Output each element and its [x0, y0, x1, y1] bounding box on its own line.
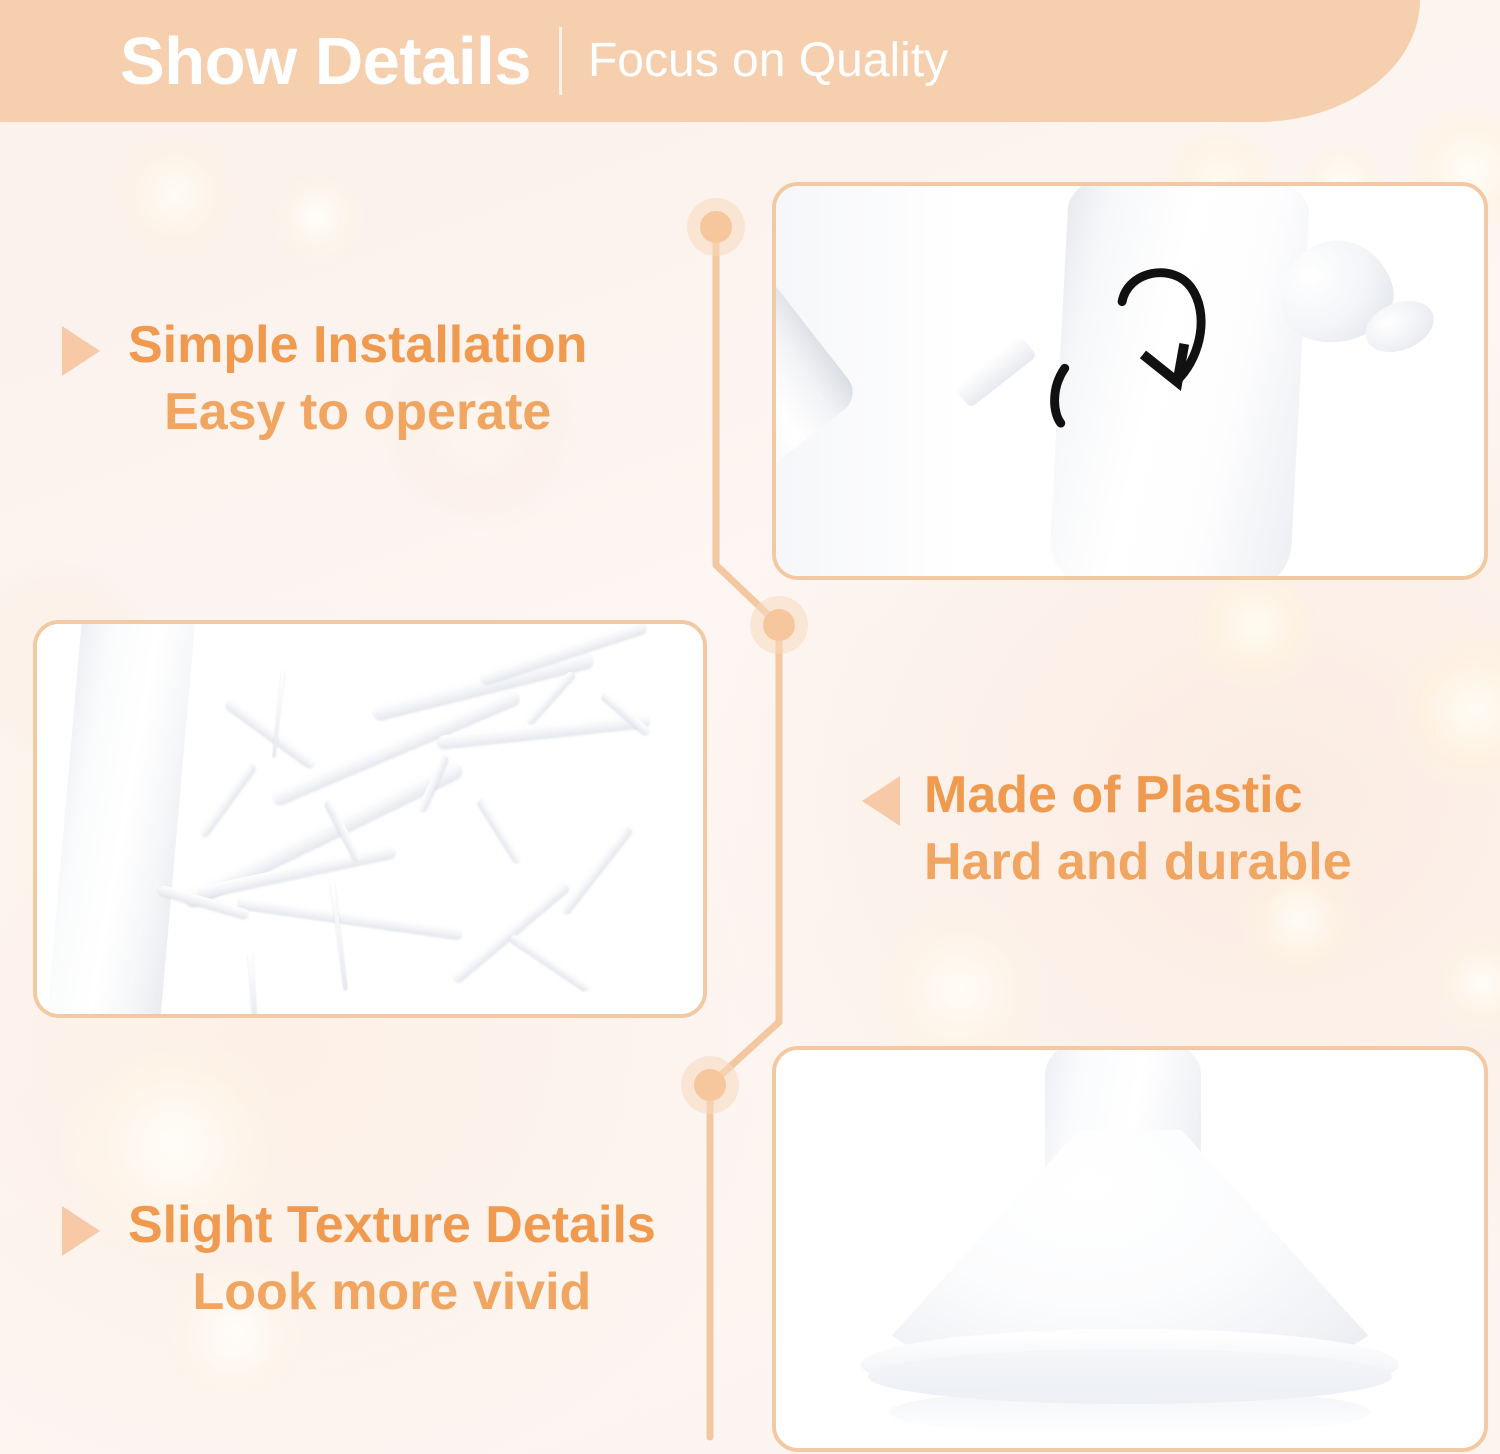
- feature-text: Simple Installation Easy to operate: [128, 312, 587, 445]
- header-subtitle: Focus on Quality: [588, 37, 948, 85]
- product-photo-branch-texture: [37, 624, 703, 1014]
- connector-dot-icon: [687, 198, 745, 256]
- feature-text: Slight Texture Details Look more vivid: [128, 1192, 656, 1325]
- infographic-page: Show Details Focus on Quality: [0, 0, 1500, 1454]
- panel-base[interactable]: [772, 1046, 1488, 1452]
- panel-branch-texture[interactable]: [33, 620, 707, 1018]
- feature-line-2: Look more vivid: [128, 1259, 656, 1326]
- page-title: Show Details: [120, 28, 531, 95]
- product-photo-branch-joint: [776, 186, 1484, 576]
- feature-line-1: Made of Plastic: [924, 762, 1352, 829]
- triangle-right-icon: [62, 326, 100, 376]
- feature-made-of-plastic: Made of Plastic Hard and durable: [862, 762, 1352, 895]
- feature-line-1: Slight Texture Details: [128, 1192, 656, 1259]
- feature-simple-installation: Simple Installation Easy to operate: [62, 312, 587, 445]
- rotate-arrow-icon: [776, 186, 1484, 576]
- feature-text: Made of Plastic Hard and durable: [924, 762, 1352, 895]
- connector-dot-icon: [681, 1056, 739, 1114]
- feature-line-2: Easy to operate: [128, 379, 587, 446]
- triangle-left-icon: [862, 776, 900, 826]
- panel-branch-joint[interactable]: [772, 182, 1488, 580]
- vertical-divider-icon: [559, 27, 562, 95]
- header-banner: Show Details Focus on Quality: [0, 0, 1420, 122]
- product-photo-base: [776, 1050, 1484, 1448]
- triangle-right-icon: [62, 1206, 100, 1256]
- connector-dot-icon: [750, 596, 808, 654]
- feature-line-1: Simple Installation: [128, 312, 587, 379]
- feature-line-2: Hard and durable: [924, 829, 1352, 896]
- feature-slight-texture-details: Slight Texture Details Look more vivid: [62, 1192, 656, 1325]
